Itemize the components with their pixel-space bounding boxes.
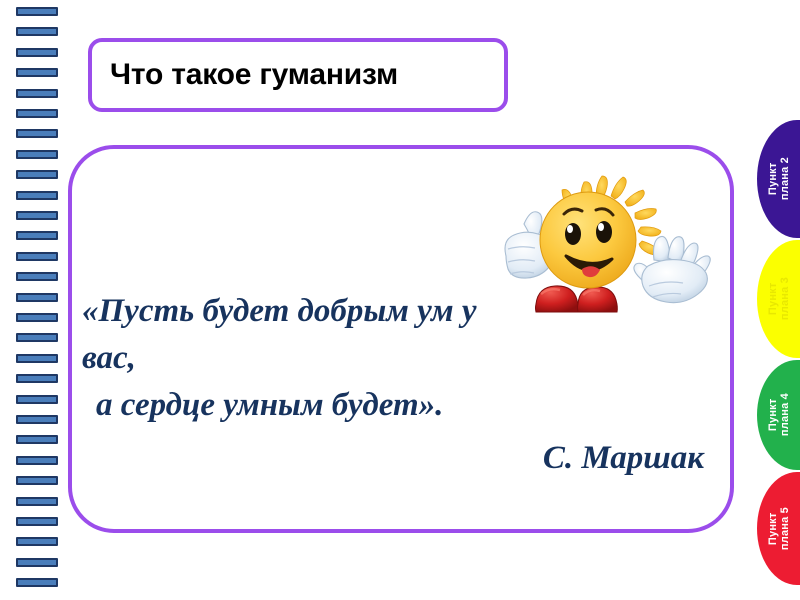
binding-bar bbox=[16, 497, 58, 506]
binding-bar bbox=[16, 68, 58, 77]
slide-canvas: Что такое гуманизм bbox=[0, 0, 800, 600]
binding-bar bbox=[16, 395, 58, 404]
binding-bar bbox=[16, 313, 58, 322]
binding-bar bbox=[16, 272, 58, 281]
binding-bar bbox=[16, 150, 58, 159]
quote-block: «Пусть будет добрым ум у вас, а сердце у… bbox=[82, 288, 722, 482]
binding-bar bbox=[16, 27, 58, 36]
sidebar-tab-plan-4[interactable]: Пункт плана 4 bbox=[757, 360, 800, 470]
sidebar-tab-plan-2[interactable]: Пункт плана 2 bbox=[757, 120, 800, 238]
slide-title-box: Что такое гуманизм bbox=[88, 38, 508, 112]
binding-bar bbox=[16, 517, 58, 526]
binding-bar bbox=[16, 558, 58, 567]
binding-bar bbox=[16, 578, 58, 587]
sidebar-tab-plan-3-label: Пункт плана 3 bbox=[767, 277, 791, 320]
binding-bar bbox=[16, 354, 58, 363]
quote-author: С. Маршак bbox=[82, 429, 722, 482]
binding-bar bbox=[16, 293, 58, 302]
page-title: Что такое гуманизм bbox=[92, 58, 398, 92]
binding-bar bbox=[16, 537, 58, 546]
binding-bar bbox=[16, 476, 58, 485]
quote-line-1: «Пусть будет добрым ум у bbox=[82, 288, 722, 335]
binding-bar bbox=[16, 129, 58, 138]
binding-bar bbox=[16, 170, 58, 179]
binding-strip bbox=[16, 0, 60, 600]
sidebar-tab-plan-5-label: Пункт плана 5 bbox=[767, 507, 791, 550]
sidebar-tab-plan-3[interactable]: Пункт плана 3 bbox=[757, 240, 800, 358]
sidebar-tab-plan-2-label: Пункт плана 2 bbox=[767, 157, 791, 200]
binding-bar bbox=[16, 7, 58, 16]
binding-bar bbox=[16, 231, 58, 240]
binding-bar bbox=[16, 374, 58, 383]
binding-bar bbox=[16, 211, 58, 220]
binding-bar bbox=[16, 252, 58, 261]
binding-bar bbox=[16, 191, 58, 200]
quote-line-3: а сердце умным будет». bbox=[82, 382, 722, 429]
sidebar-tab-plan-5[interactable]: Пункт плана 5 bbox=[757, 472, 800, 585]
binding-bar bbox=[16, 48, 58, 57]
binding-bar bbox=[16, 456, 58, 465]
binding-bar bbox=[16, 109, 58, 118]
sidebar-tab-plan-4-label: Пункт плана 4 bbox=[767, 393, 791, 436]
binding-bar bbox=[16, 89, 58, 98]
binding-bar bbox=[16, 333, 58, 342]
binding-bar bbox=[16, 415, 58, 424]
binding-bar bbox=[16, 435, 58, 444]
quote-line-2: вас, bbox=[82, 335, 722, 382]
